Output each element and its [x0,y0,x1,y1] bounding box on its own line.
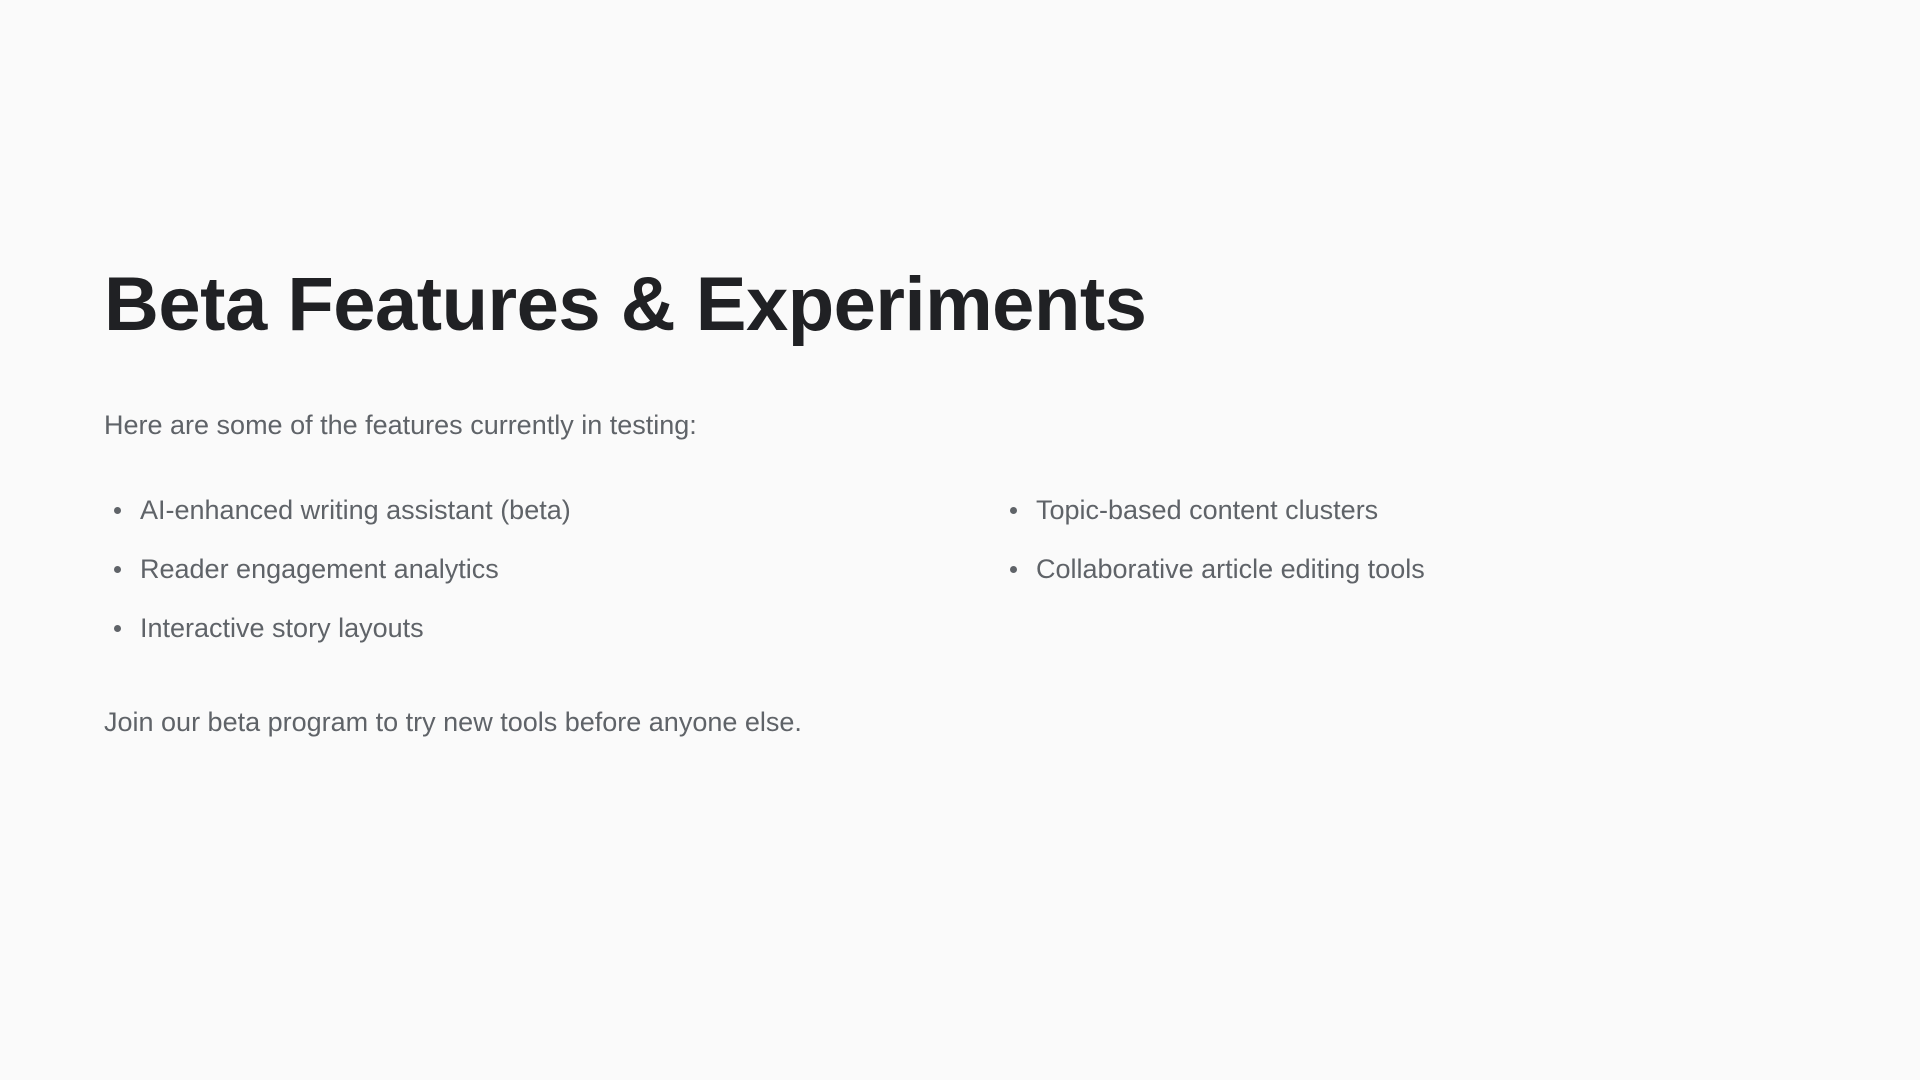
list-item-label: Collaborative article editing tools [1036,554,1425,584]
page-root: Beta Features & Experiments Here are som… [0,0,1920,1080]
feature-column-right: Topic-based content clusters Collaborati… [1000,493,1816,587]
list-item: Reader engagement analytics [104,552,1000,587]
bullet-icon [1010,566,1017,573]
bullet-icon [114,625,121,632]
feature-columns: AI-enhanced writing assistant (beta) Rea… [104,445,1816,646]
content-container: Beta Features & Experiments Here are som… [104,262,1816,742]
intro-paragraph: Here are some of the features currently … [104,347,1816,445]
feature-column-left: AI-enhanced writing assistant (beta) Rea… [104,493,1000,646]
list-item-label: Reader engagement analytics [140,554,499,584]
feature-list-right: Topic-based content clusters Collaborati… [1000,493,1816,587]
list-item-label: AI-enhanced writing assistant (beta) [140,495,571,525]
list-item: Collaborative article editing tools [1000,552,1816,587]
list-item: Interactive story layouts [104,611,1000,646]
outro-paragraph: Join our beta program to try new tools b… [104,647,1816,742]
bullet-icon [114,507,121,514]
list-item-label: Interactive story layouts [140,613,424,643]
list-item: AI-enhanced writing assistant (beta) [104,493,1000,528]
feature-list-left: AI-enhanced writing assistant (beta) Rea… [104,493,1000,646]
list-item-label: Topic-based content clusters [1036,495,1378,525]
page-title: Beta Features & Experiments [104,262,1816,347]
bullet-icon [1010,507,1017,514]
list-item: Topic-based content clusters [1000,493,1816,528]
bullet-icon [114,566,121,573]
